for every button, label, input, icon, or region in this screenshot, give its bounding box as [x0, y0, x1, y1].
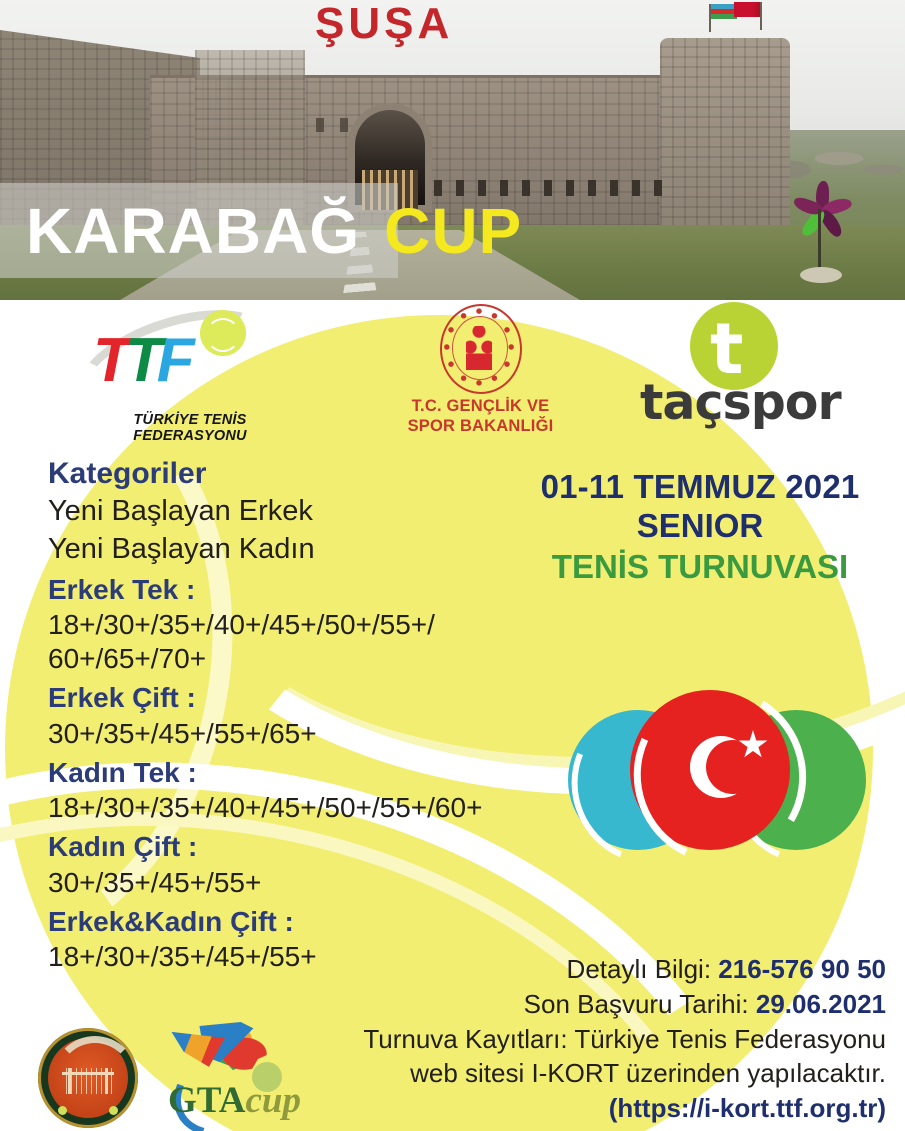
category-head-womens-doubles: Kadın Çift : — [48, 829, 518, 865]
gtacup-primary-text: GTA — [168, 1080, 245, 1121]
category-head-womens-singles: Kadın Tek : — [48, 755, 518, 791]
ministry-name: T.C. GENÇLİK VE SPOR BAKANLIĞI — [378, 396, 583, 436]
bridge-icon — [62, 1068, 114, 1094]
contact-phone-value: 216-576 90 50 — [718, 954, 886, 984]
ttf-letter-2: T — [125, 326, 157, 395]
ministry-logo: T.C. GENÇLİK VE SPOR BAKANLIĞI — [378, 304, 583, 436]
tournament-poster: ŞUŞA KARABAĞ CUP TTF TÜRKİYE TENİS FEDER… — [0, 0, 905, 1131]
ttf-tennis-ball-icon — [200, 310, 246, 356]
registration-line-1: Turnuva Kayıtları: Türkiye Tenis Federas… — [330, 1022, 886, 1057]
category-values-womens-doubles: 30+/35+/45+/55+ — [48, 866, 518, 900]
contact-phone-label: Detaylı Bilgi: — [567, 954, 719, 984]
gtacup-wordmark: GTAcup — [168, 1082, 343, 1119]
poster-title: KARABAĞ CUP — [0, 183, 905, 278]
ttf-monogram: TTF — [93, 330, 189, 392]
contact-deadline-label: Son Başvuru Tarihi: — [524, 989, 756, 1019]
event-level: SENIOR — [505, 506, 895, 546]
registration-url[interactable]: (https://i-kort.ttf.org.tr) — [330, 1091, 886, 1126]
category-beginner-men: Yeni Başlayan Erkek — [48, 493, 518, 530]
contact-deadline-line: Son Başvuru Tarihi: 29.06.2021 — [330, 987, 886, 1022]
category-head-mens-singles: Erkek Tek : — [48, 572, 518, 608]
turkey-flag — [734, 2, 760, 17]
sponsor-logo-row: TTF TÜRKİYE TENİS FEDERASYONU T.C. GENÇL… — [0, 300, 905, 440]
ministry-figures-icon — [466, 326, 492, 370]
tacspor-wordmark: taçspor — [640, 378, 890, 427]
atasehir-tennis-club-badge — [38, 1028, 138, 1128]
contact-phone-line: Detaylı Bilgi: 216-576 90 50 — [330, 952, 886, 987]
gtacup-secondary-text: cup — [245, 1080, 301, 1121]
contact-block: Detaylı Bilgi: 216-576 90 50 Son Başvuru… — [330, 952, 886, 1126]
ttf-letter-3: F — [157, 326, 189, 395]
crescent-icon — [690, 736, 752, 798]
ministry-line-2: SPOR BAKANLIĞI — [378, 416, 583, 436]
contact-deadline-value: 29.06.2021 — [756, 989, 886, 1019]
tacspor-logo: t taçspor — [640, 302, 890, 438]
category-beginner-women: Yeni Başlayan Kadın — [48, 531, 518, 568]
event-type: TENİS TURNUVASI — [505, 547, 895, 587]
event-heading: 01-11 TEMMUZ 2021 SENIOR TENİS TURNUVASI — [505, 468, 895, 587]
category-values-mens-singles-2: 60+/65+/70+ — [48, 642, 518, 676]
title-karabag: KARABAĞ — [26, 199, 360, 263]
categories-column: Kategoriler Yeni Başlayan Erkek Yeni Baş… — [48, 455, 518, 975]
susa-hilltop-sign: ŞUŞA — [315, 2, 453, 46]
category-head-mixed-doubles: Erkek&Kadın Çift : — [48, 904, 518, 940]
badge-ball-right-icon — [109, 1106, 118, 1115]
category-values-womens-singles: 18+/30+/35+/40+/45+/50+/55+/60+ — [48, 791, 518, 825]
category-values-mens-singles-1: 18+/30+/35+/40+/45+/50+/55+/ — [48, 608, 518, 642]
flagpole-right — [760, 2, 762, 30]
fortress-photo: ŞUŞA KARABAĞ CUP — [0, 0, 905, 300]
event-dates: 01-11 TEMMUZ 2021 — [505, 468, 895, 506]
ttf-letter-1: T — [93, 326, 125, 395]
ttf-caption: TÜRKİYE TENİS FEDERASYONU — [75, 412, 305, 444]
three-tennis-balls-graphic — [548, 688, 888, 903]
category-values-mens-doubles: 30+/35+/45+/55+/65+ — [48, 717, 518, 751]
gtacup-logo: GTAcup — [168, 1022, 343, 1130]
title-cup: CUP — [384, 199, 522, 263]
category-head-mens-doubles: Erkek Çift : — [48, 680, 518, 716]
badge-ball-left-icon — [58, 1106, 67, 1115]
ttf-logo: TTF TÜRKİYE TENİS FEDERASYONU — [75, 308, 305, 438]
categories-title: Kategoriler — [48, 455, 518, 493]
registration-line-2: web sitesi I-KORT üzerinden yapılacaktır… — [330, 1056, 886, 1091]
ministry-line-1: T.C. GENÇLİK VE — [378, 396, 583, 416]
